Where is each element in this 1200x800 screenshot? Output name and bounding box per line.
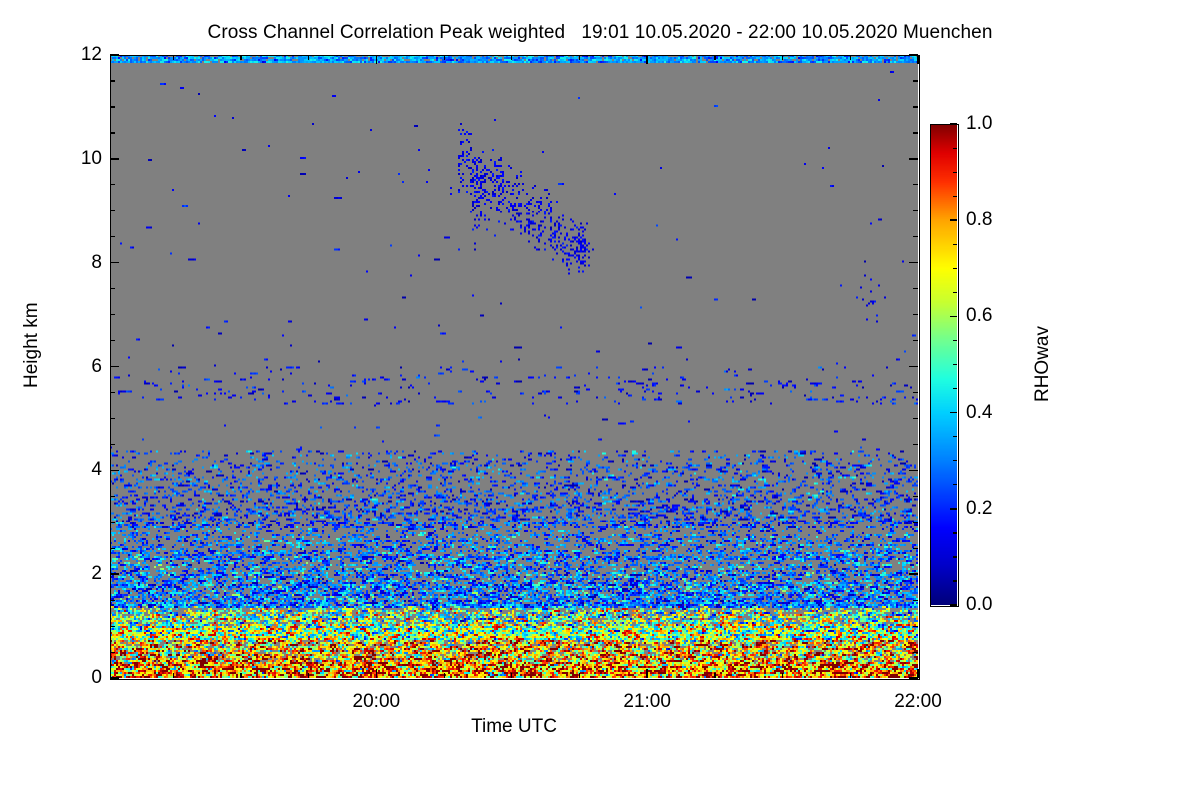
colorbar-tick-minor	[953, 364, 957, 365]
colorbar-tick-minor	[953, 148, 957, 149]
colorbar-tick-label: 0.2	[966, 498, 992, 520]
colorbar-tick-minor	[953, 388, 957, 389]
colorbar-tick-minor	[953, 436, 957, 437]
colorbar-tick-minor	[953, 172, 957, 173]
colorbar-label: RHOwav	[1032, 324, 1054, 404]
colorbar-tick-minor	[953, 556, 957, 557]
colorbar-tick	[950, 604, 957, 606]
colorbar-tick-label: 0.4	[966, 402, 992, 424]
colorbar-tick	[950, 219, 957, 221]
colorbar-tick-minor	[953, 292, 957, 293]
colorbar-tick-minor	[953, 268, 957, 269]
colorbar-tick-minor	[953, 340, 957, 341]
colorbar-tick-label: 0.8	[966, 209, 992, 231]
colorbar-tick-minor	[953, 244, 957, 245]
colorbar-tick-minor	[953, 196, 957, 197]
colorbar-tick-minor	[953, 580, 957, 581]
colorbar-tick-label: 0.6	[966, 305, 992, 327]
colorbar-tick-label: 1.0	[966, 113, 992, 135]
colorbar-tick-minor	[953, 412, 957, 413]
colorbar-tick-label: 0.0	[966, 594, 992, 616]
colorbar-tick-minor	[953, 532, 957, 533]
colorbar-tick-minor	[953, 460, 957, 461]
colorbar-tick	[950, 123, 957, 125]
colorbar-tick-minor	[953, 484, 957, 485]
colorbar-axis: 0.00.20.40.60.81.0	[0, 0, 1200, 800]
colorbar-tick	[950, 508, 957, 510]
figure-root: Cross Channel Correlation Peak weighted …	[0, 0, 1200, 800]
colorbar-tick	[950, 316, 957, 318]
